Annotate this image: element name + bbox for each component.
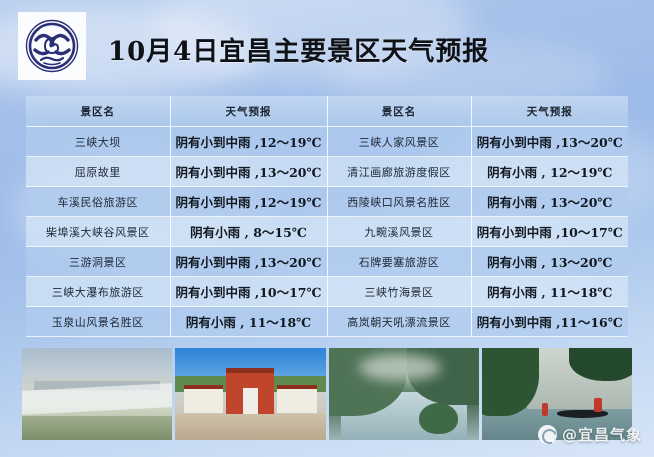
weibo-icon [538,425,557,444]
table-row: 三峡大坝 阴有小到中雨 ,12～19℃ 三峡人家风景区 阴有小到中雨 ,13～2… [26,127,628,157]
column-header-name-left: 景区名 [26,96,170,127]
weather-forecast: 阴有小雨 , 8～15℃ [170,217,327,247]
scenic-area-name: 柴埠溪大峡谷风景区 [26,217,170,247]
cma-logo [18,12,86,80]
scenic-area-name: 清江画廊旅游度假区 [327,157,471,187]
scenic-area-name: 三峡竹海景区 [327,277,471,307]
weather-forecast: 阴有小雨 , 11～18℃ [170,307,327,337]
weather-forecast: 阴有小到中雨 ,13～20℃ [471,127,628,157]
scenic-area-name: 三峡大坝 [26,127,170,157]
scenic-area-name: 三峡大瀑布旅游区 [26,277,170,307]
scenic-area-name: 屈原故里 [26,157,170,187]
page-title: 10月4日宜昌主要景区天气预报 [108,31,489,68]
weather-forecast: 阴有小雨 , 12～19℃ [471,157,628,187]
column-header-name-right: 景区名 [327,96,471,127]
scenic-area-name: 石牌要塞旅游区 [327,247,471,277]
weather-forecast: 阴有小雨 , 11～18℃ [471,277,628,307]
column-header-forecast-left: 天气预报 [170,96,327,127]
scenic-area-name: 三峡人家风景区 [327,127,471,157]
weather-forecast: 阴有小到中雨 ,13～20℃ [170,157,327,187]
forecast-table: 景区名 天气预报 景区名 天气预报 三峡大坝 阴有小到中雨 ,12～19℃ 三峡… [26,96,628,337]
scenic-area-name: 高岚朝天吼漂流景区 [327,307,471,337]
weather-forecast: 阴有小到中雨 ,12～19℃ [170,127,327,157]
scenic-area-name: 三游洞景区 [26,247,170,277]
column-header-forecast-right: 天气预报 [471,96,628,127]
weather-forecast-poster: 10月4日宜昌主要景区天气预报 景区名 天气预报 景区名 天气预报 三峡大坝 阴… [0,0,654,457]
weather-forecast: 阴有小到中雨 ,13～20℃ [170,247,327,277]
photo-three-gorges-dam [22,348,172,440]
table-row: 屈原故里 阴有小到中雨 ,13～20℃ 清江画廊旅游度假区 阴有小雨 , 12～… [26,157,628,187]
watermark: @宜昌气象 [538,424,642,445]
photo-quyuan-hometown [175,348,325,440]
table-row: 三游洞景区 阴有小到中雨 ,13～20℃ 石牌要塞旅游区 阴有小雨 , 13～2… [26,247,628,277]
scenic-area-name: 西陵峡口风景名胜区 [327,187,471,217]
watermark-text: @宜昌气象 [562,424,642,445]
weather-forecast: 阴有小到中雨 ,12～19℃ [170,187,327,217]
weather-forecast: 阴有小到中雨 ,11～16℃ [471,307,628,337]
forecast-table-wrapper: 景区名 天气预报 景区名 天气预报 三峡大坝 阴有小到中雨 ,12～19℃ 三峡… [26,96,628,336]
scenic-area-name: 九畹溪风景区 [327,217,471,247]
table-row: 柴埠溪大峡谷风景区 阴有小雨 , 8～15℃ 九畹溪风景区 阴有小到中雨 ,10… [26,217,628,247]
table-row: 车溪民俗旅游区 阴有小到中雨 ,12～19℃ 西陵峡口风景名胜区 阴有小雨 , … [26,187,628,217]
weather-forecast: 阴有小到中雨 ,10～17℃ [170,277,327,307]
cma-emblem-icon [24,18,80,74]
scenic-area-name: 车溪民俗旅游区 [26,187,170,217]
table-row: 玉泉山风景名胜区 阴有小雨 , 11～18℃ 高岚朝天吼漂流景区 阴有小到中雨 … [26,307,628,337]
weather-forecast: 阴有小雨 , 13～20℃ [471,247,628,277]
table-row: 三峡大瀑布旅游区 阴有小到中雨 ,10～17℃ 三峡竹海景区 阴有小雨 , 11… [26,277,628,307]
weather-forecast: 阴有小到中雨 ,10～17℃ [471,217,628,247]
weather-forecast: 阴有小雨 , 13～20℃ [471,187,628,217]
poster-header: 10月4日宜昌主要景区天气预报 [0,0,654,92]
photo-gorge-river [329,348,479,440]
scenic-area-name: 玉泉山风景名胜区 [26,307,170,337]
table-header-row: 景区名 天气预报 景区名 天气预报 [26,96,628,127]
